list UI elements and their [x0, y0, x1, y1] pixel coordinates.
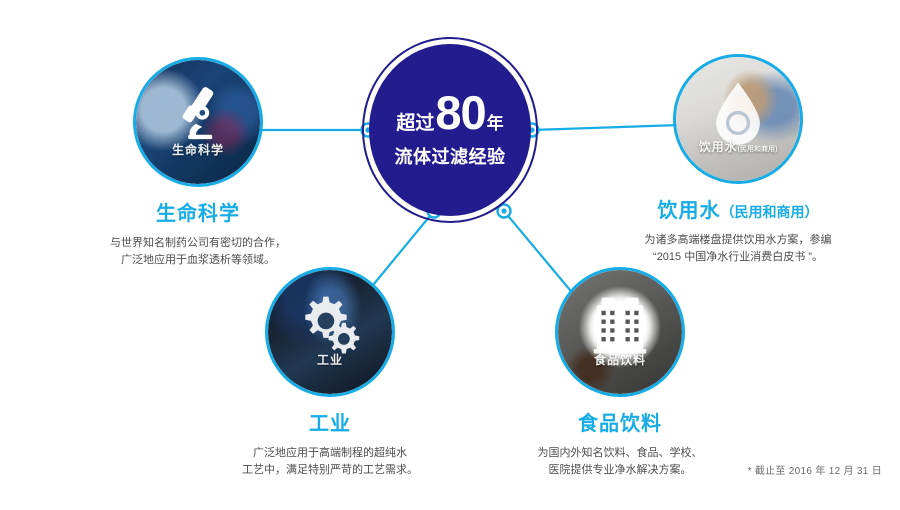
buildings-icon: [585, 290, 655, 360]
industrial-photo: 工业: [265, 267, 395, 397]
hub-prefix: 超过: [396, 108, 434, 135]
industrial-title: 工业: [210, 407, 450, 436]
life-sciences-photo-caption: 生命科学: [136, 141, 260, 158]
hub-headline: 超过 80 年: [396, 91, 503, 136]
industrial-photo-caption: 工业: [268, 351, 392, 368]
industrial-description: 广泛地应用于高端制程的超纯水 工艺中，满足特别严苛的工艺需求。: [210, 445, 450, 479]
drinking-water-description: 为诸多高端楼盘提供饮用水方案，参编 “2015 中国净水行业消费白皮书 ”。: [618, 232, 858, 266]
gears-icon: [295, 290, 365, 360]
center-hub: 超过 80 年 流体过滤经验: [362, 37, 538, 223]
node-industrial[interactable]: 工业 工业 广泛地应用于高端制程的超纯水 工艺中，满足特别严苛的工艺需求。: [210, 267, 450, 479]
life-sciences-title: 生命科学: [78, 197, 318, 226]
hub-number: 80: [435, 91, 485, 136]
hub-subtitle: 流体过滤经验: [395, 143, 506, 169]
infographic-canvas: 超过 80 年 流体过滤经验 生命科学 生命科学: [0, 0, 900, 510]
water-drop-icon: [703, 77, 773, 147]
node-drinking-water[interactable]: 饮用水(民用和商用) 饮用水（民用和商用） 为诸多高端楼盘提供饮用水方案，参编 …: [618, 54, 858, 266]
life-sciences-photo: 生命科学: [133, 57, 263, 187]
microscope-icon: [163, 80, 233, 150]
drinking-water-photo-caption-main: 饮用水: [699, 140, 738, 154]
footnote: * 截止至 2016 年 12 月 31 日: [748, 462, 882, 477]
drinking-water-title: 饮用水（民用和商用）: [618, 194, 858, 223]
drinking-water-photo-caption: 饮用水(民用和商用): [676, 138, 800, 155]
life-sciences-description: 与世界知名制药公司有密切的合作， 广泛地应用于血浆透析等领域。: [78, 235, 318, 269]
drinking-water-photo-caption-sub: (民用和商用): [738, 146, 778, 153]
hub-core: 超过 80 年 流体过滤经验: [369, 44, 531, 216]
drinking-water-title-main: 饮用水: [658, 200, 721, 222]
node-life-sciences[interactable]: 生命科学 生命科学 与世界知名制药公司有密切的合作， 广泛地应用于血浆透析等领域…: [78, 57, 318, 269]
food-beverage-photo-caption: 食品饮料: [558, 351, 682, 368]
food-beverage-description: 为国内外知名饮料、食品、学校、 医院提供专业净水解决方案。: [500, 445, 740, 479]
food-beverage-title: 食品饮料: [500, 407, 740, 436]
drinking-water-photo: 饮用水(民用和商用): [673, 54, 803, 184]
drinking-water-title-sub: （民用和商用）: [721, 204, 819, 220]
node-food-beverage[interactable]: 食品饮料 食品饮料 为国内外知名饮料、食品、学校、 医院提供专业净水解决方案。: [500, 267, 740, 479]
hub-suffix: 年: [487, 109, 504, 134]
food-beverage-photo: 食品饮料: [555, 267, 685, 397]
